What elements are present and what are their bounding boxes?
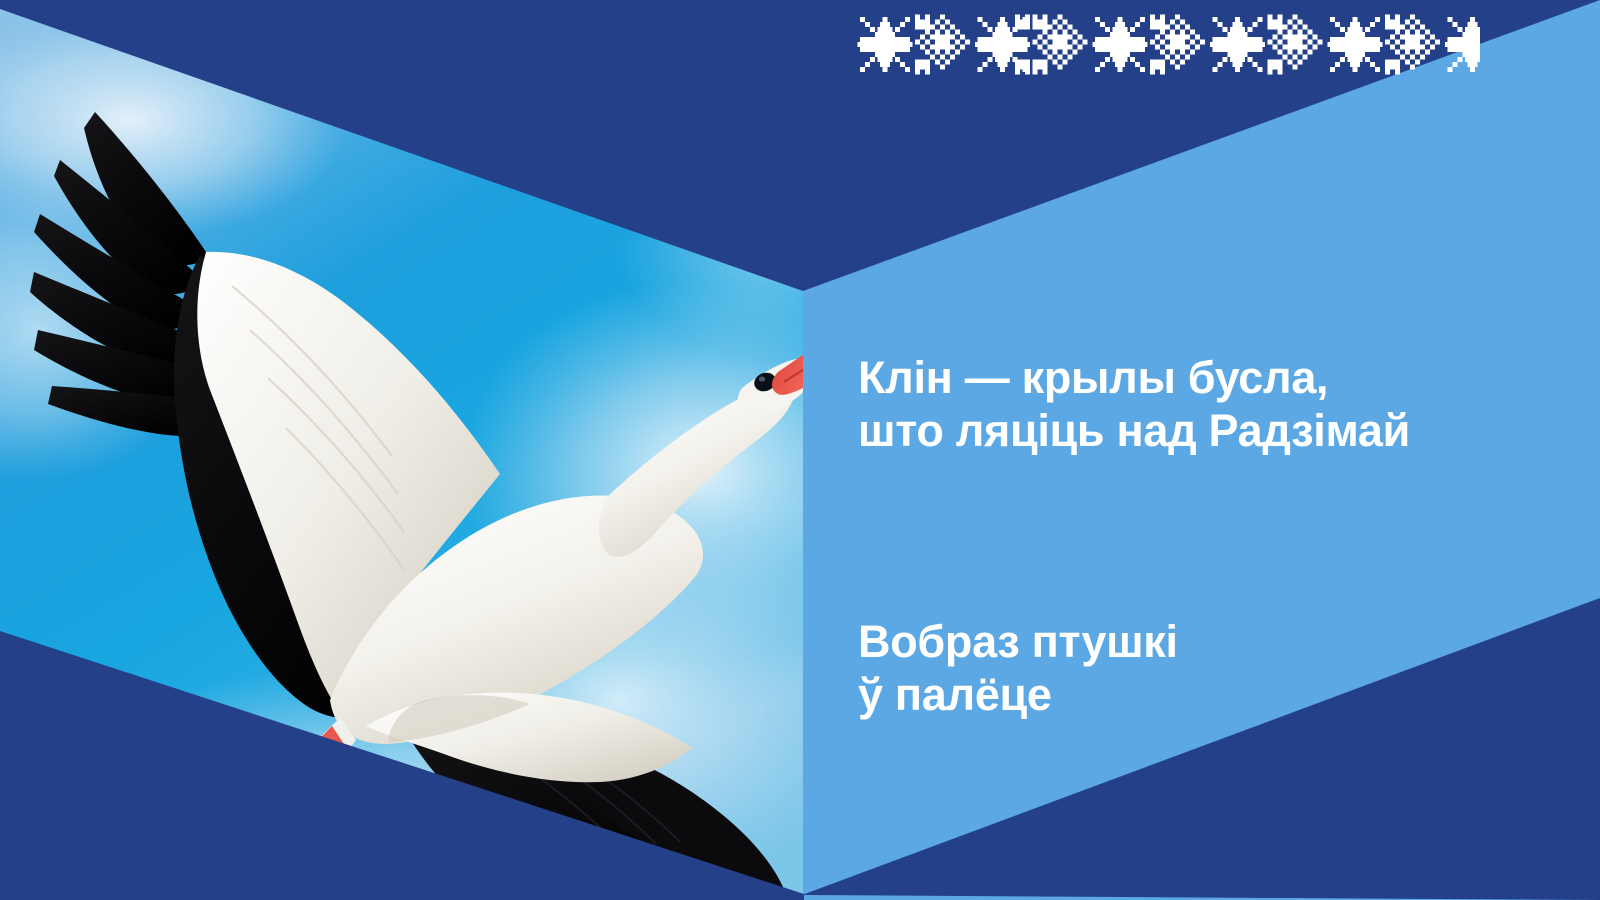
belarusian-ornament-band — [855, 4, 1480, 80]
poster-canvas: Клін — крылы бусла, што ляціць над Радзі… — [0, 0, 1600, 900]
headline-text: Клін — крылы бусла, што ляціць над Радзі… — [858, 351, 1410, 457]
ornament-pattern — [855, 4, 1480, 80]
subline-text: Вобраз птушкі ў палёце — [858, 615, 1178, 721]
